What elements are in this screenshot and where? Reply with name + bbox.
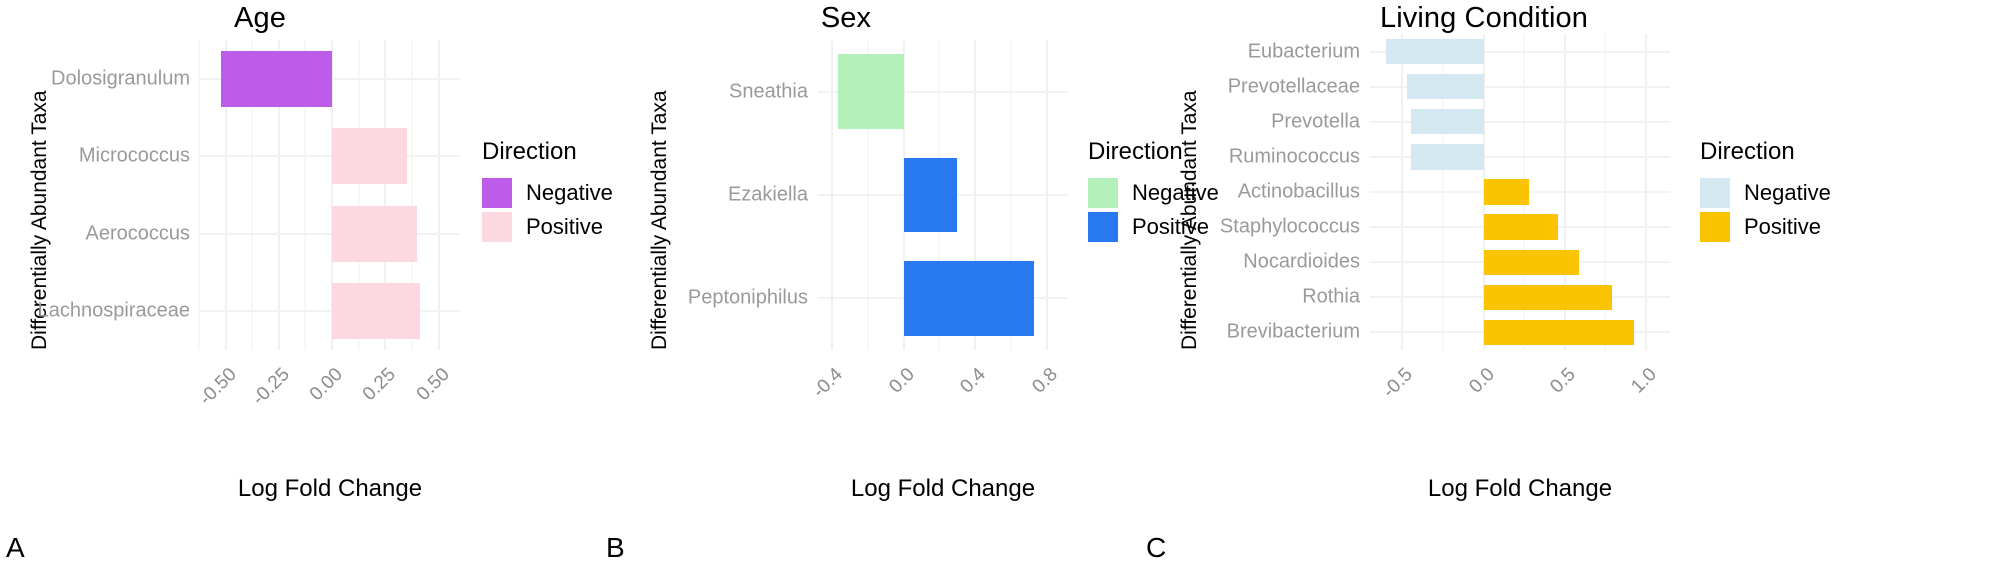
legend-swatch-negative-b xyxy=(1088,178,1118,208)
y-tick-label: Aerococcus xyxy=(86,222,191,245)
x-axis-title-a: Log Fold Change xyxy=(200,475,460,503)
x-axis-title-c: Log Fold Change xyxy=(1370,475,1670,503)
legend-swatch-positive-c xyxy=(1700,212,1730,242)
legend-row-positive-a[interactable]: Positive xyxy=(482,210,613,244)
plot-area-c xyxy=(1370,34,1670,350)
y-tick-label: Lachnospiraceae xyxy=(38,300,190,323)
y-tick-label: Micrococcus xyxy=(79,145,190,168)
bar-rothia[interactable] xyxy=(1484,285,1612,310)
bar-dolosigranulum[interactable] xyxy=(221,51,332,107)
panel-sex: Sex Differentially Abundant Taxa Log Fol… xyxy=(600,0,1140,566)
grid-line-horizontal xyxy=(200,310,460,312)
bar-staphylococcus[interactable] xyxy=(1484,214,1559,239)
grid-line-horizontal xyxy=(200,233,460,235)
grid-line-horizontal xyxy=(200,155,460,157)
bar-micrococcus[interactable] xyxy=(332,128,407,184)
y-tick-label: Peptoniphilus xyxy=(688,287,808,310)
y-tick-label: Staphylococcus xyxy=(1220,216,1360,239)
bar-nocardioides[interactable] xyxy=(1484,250,1580,275)
legend-swatch-negative-c xyxy=(1700,178,1730,208)
plot-area-b xyxy=(818,40,1068,350)
panel-title-age: Age xyxy=(0,2,560,35)
legend-title-a: Direction xyxy=(482,138,613,166)
y-axis-title-b: Differentially Abundant Taxa xyxy=(648,90,672,350)
y-tick-label: Actinobacillus xyxy=(1238,181,1360,204)
y-tick-label: Brevibacterium xyxy=(1227,321,1360,344)
legend-label-negative-c: Negative xyxy=(1744,180,1831,206)
y-tick-label: Prevotella xyxy=(1271,110,1360,133)
grid-line-vertical xyxy=(198,40,200,350)
legend-swatch-positive-a xyxy=(482,212,512,242)
bar-actinobacillus[interactable] xyxy=(1484,179,1529,204)
y-tick-label: Eubacterium xyxy=(1248,40,1360,63)
bar-aerococcus[interactable] xyxy=(332,206,417,262)
bar-peptoniphilus[interactable] xyxy=(904,261,1034,335)
panel-title-living-condition: Living Condition xyxy=(1050,2,1918,35)
panel-title-sex: Sex xyxy=(576,2,1116,35)
panel-letter-b: B xyxy=(606,532,625,564)
legend-label-positive-a: Positive xyxy=(526,214,603,240)
legend-swatch-positive-b xyxy=(1088,212,1118,242)
bar-ruminococcus[interactable] xyxy=(1411,144,1484,169)
legend-c: Direction Negative Positive xyxy=(1700,138,1831,244)
bar-ezakiella[interactable] xyxy=(904,158,958,232)
legend-row-positive-c[interactable]: Positive xyxy=(1700,210,1831,244)
y-tick-label: Nocardioides xyxy=(1243,251,1360,274)
bar-lachnospiraceae[interactable] xyxy=(332,283,419,339)
y-axis-title-c: Differentially Abundant Taxa xyxy=(1178,90,1202,350)
y-tick-label: Ezakiella xyxy=(728,184,808,207)
y-tick-label: Dolosigranulum xyxy=(51,67,190,90)
plot-area-a xyxy=(200,40,460,350)
figure-differential-abundance: Age Differentially Abundant Taxa Log Fol… xyxy=(0,0,2008,566)
y-tick-label: Ruminococcus xyxy=(1229,145,1360,168)
legend-a: Direction Negative Positive xyxy=(482,138,613,244)
legend-label-positive-c: Positive xyxy=(1744,214,1821,240)
y-tick-label: Sneathia xyxy=(729,80,808,103)
x-tick-label: -0.50 xyxy=(141,364,241,464)
legend-swatch-negative-a xyxy=(482,178,512,208)
panel-living-condition: Living Condition Differentially Abundant… xyxy=(1140,0,2008,566)
panel-letter-a: A xyxy=(6,532,25,564)
bar-brevibacterium[interactable] xyxy=(1484,320,1635,345)
y-tick-label: Rothia xyxy=(1302,286,1360,309)
grid-line-vertical xyxy=(438,40,440,350)
bar-sneathia[interactable] xyxy=(838,54,904,128)
legend-title-c: Direction xyxy=(1700,138,1831,166)
x-axis-title-b: Log Fold Change xyxy=(818,475,1068,503)
y-tick-label: Prevotellaceae xyxy=(1228,75,1360,98)
bar-eubacterium[interactable] xyxy=(1386,39,1483,64)
bar-prevotellaceae[interactable] xyxy=(1407,74,1483,99)
panel-letter-c: C xyxy=(1146,532,1166,564)
bar-prevotella[interactable] xyxy=(1411,109,1484,134)
legend-row-negative-a[interactable]: Negative xyxy=(482,176,613,210)
legend-row-negative-c[interactable]: Negative xyxy=(1700,176,1831,210)
panel-age: Age Differentially Abundant Taxa Log Fol… xyxy=(0,0,600,566)
